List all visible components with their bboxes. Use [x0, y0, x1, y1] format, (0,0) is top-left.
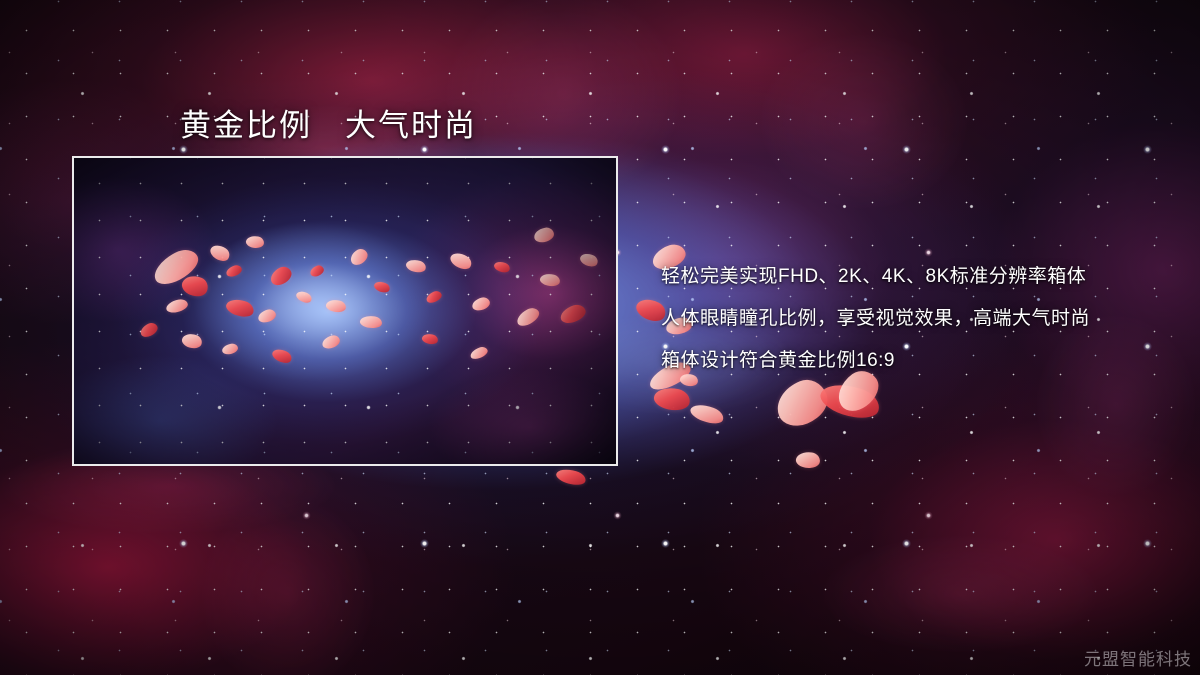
rose-petal	[795, 450, 821, 469]
body-text-block: 轻松完美实现FHD、2K、4K、8K标准分辨率箱体 人体眼睛瞳孔比例，享受视觉效…	[661, 256, 1181, 382]
frame-vignette	[74, 158, 616, 464]
body-line-3: 箱体设计符合黄金比例16:9	[661, 340, 1181, 382]
body-line-2: 人体眼睛瞳孔比例，享受视觉效果，高端大气时尚	[661, 298, 1181, 340]
presentation-slide: 黄金比例 大气时尚 轻松完美实现FHD、2K、4K、8K标准分辨率箱体 人体眼睛…	[0, 0, 1200, 675]
body-line-1: 轻松完美实现FHD、2K、4K、8K标准分辨率箱体	[661, 256, 1181, 298]
framed-image-panel	[72, 156, 618, 466]
rose-petal	[555, 466, 588, 488]
watermark-label: 元盟智能科技	[1084, 645, 1192, 670]
rose-petal	[688, 401, 725, 428]
slide-title: 黄金比例 大气时尚	[180, 100, 477, 145]
